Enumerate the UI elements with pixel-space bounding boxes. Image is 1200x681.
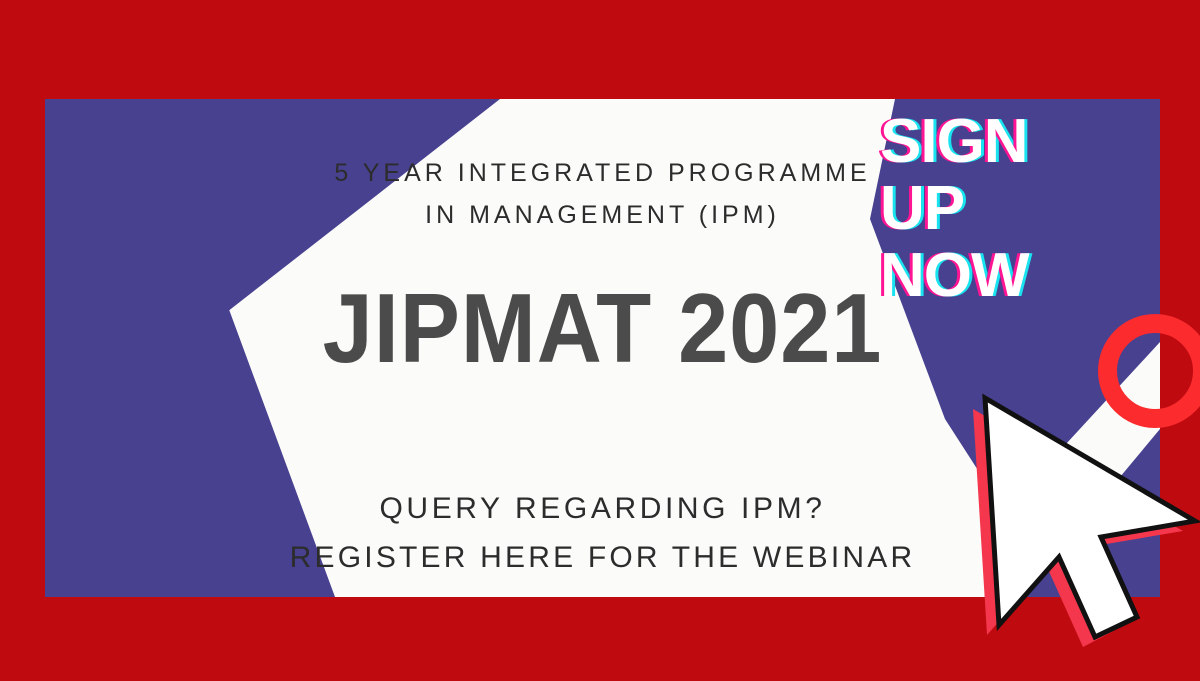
mouse-pointer-arrow-icon [955, 385, 1200, 665]
cta-line-3: NOW [880, 242, 1130, 309]
banner-screenshot: 5 YEAR INTEGRATED PROGRAMME IN MANAGEMEN… [0, 0, 1200, 681]
cursor-body [985, 398, 1195, 637]
cta-line-1: SIGN [880, 108, 1130, 175]
sign-up-now-cta[interactable]: SIGN UP NOW [880, 108, 1130, 309]
cta-line-2: UP [880, 175, 1130, 242]
